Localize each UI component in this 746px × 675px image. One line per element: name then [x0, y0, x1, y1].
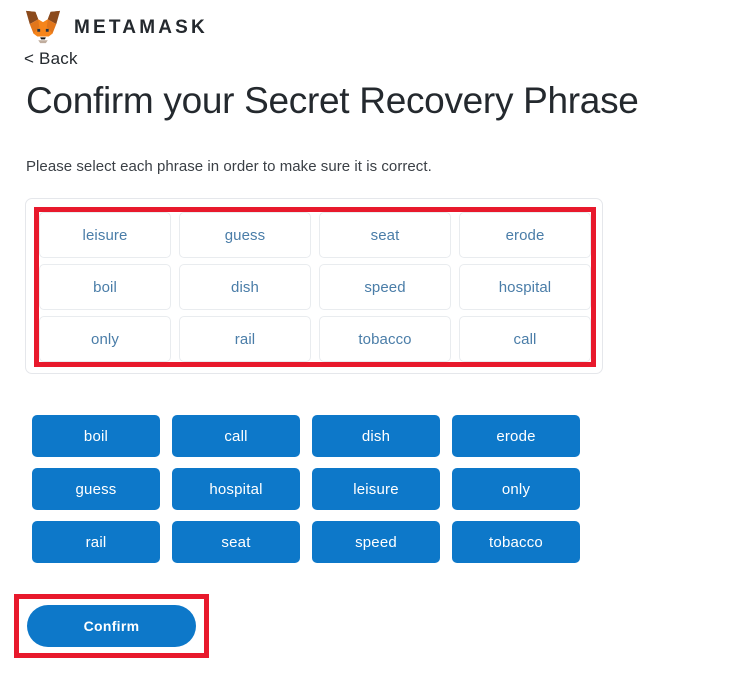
phrase-cell[interactable]: seat — [319, 212, 451, 258]
selected-phrase-grid: leisure guess seat erode boil dish speed… — [39, 212, 591, 362]
phrase-cell[interactable]: leisure — [39, 212, 171, 258]
confirm-button[interactable]: Confirm — [27, 605, 196, 647]
phrase-cell[interactable]: hospital — [459, 264, 591, 310]
brand-row: METAMASK — [24, 8, 724, 46]
word-bank-button[interactable]: call — [172, 415, 300, 457]
phrase-cell[interactable]: rail — [179, 316, 311, 362]
word-bank-button[interactable]: speed — [312, 521, 440, 563]
phrase-cell[interactable]: guess — [179, 212, 311, 258]
phrase-cell[interactable]: only — [39, 316, 171, 362]
word-bank-button[interactable]: seat — [172, 521, 300, 563]
metamask-fox-icon — [24, 9, 62, 45]
word-bank-button[interactable]: leisure — [312, 468, 440, 510]
back-link[interactable]: < Back — [24, 49, 78, 69]
word-bank-button[interactable]: rail — [32, 521, 160, 563]
word-bank-button[interactable]: only — [452, 468, 580, 510]
phrase-cell[interactable]: speed — [319, 264, 451, 310]
page-title: Confirm your Secret Recovery Phrase — [26, 80, 639, 123]
selected-phrase-card: leisure guess seat erode boil dish speed… — [25, 198, 603, 374]
phrase-cell[interactable]: erode — [459, 212, 591, 258]
phrase-cell[interactable]: tobacco — [319, 316, 451, 362]
phrase-cell[interactable]: call — [459, 316, 591, 362]
word-bank-button[interactable]: tobacco — [452, 521, 580, 563]
phrase-cell[interactable]: boil — [39, 264, 171, 310]
word-bank-button[interactable]: hospital — [172, 468, 300, 510]
word-bank-button[interactable]: boil — [32, 415, 160, 457]
phrase-cell[interactable]: dish — [179, 264, 311, 310]
word-bank: boil call dish erode guess hospital leis… — [32, 415, 584, 563]
word-bank-button[interactable]: erode — [452, 415, 580, 457]
page-subtitle: Please select each phrase in order to ma… — [26, 158, 432, 175]
page-header: METAMASK < Back — [24, 8, 724, 69]
metamask-confirm-recovery-phrase-page: METAMASK < Back Confirm your Secret Reco… — [0, 0, 746, 675]
word-bank-button[interactable]: dish — [312, 415, 440, 457]
metamask-wordmark: METAMASK — [74, 18, 208, 37]
word-bank-button[interactable]: guess — [32, 468, 160, 510]
